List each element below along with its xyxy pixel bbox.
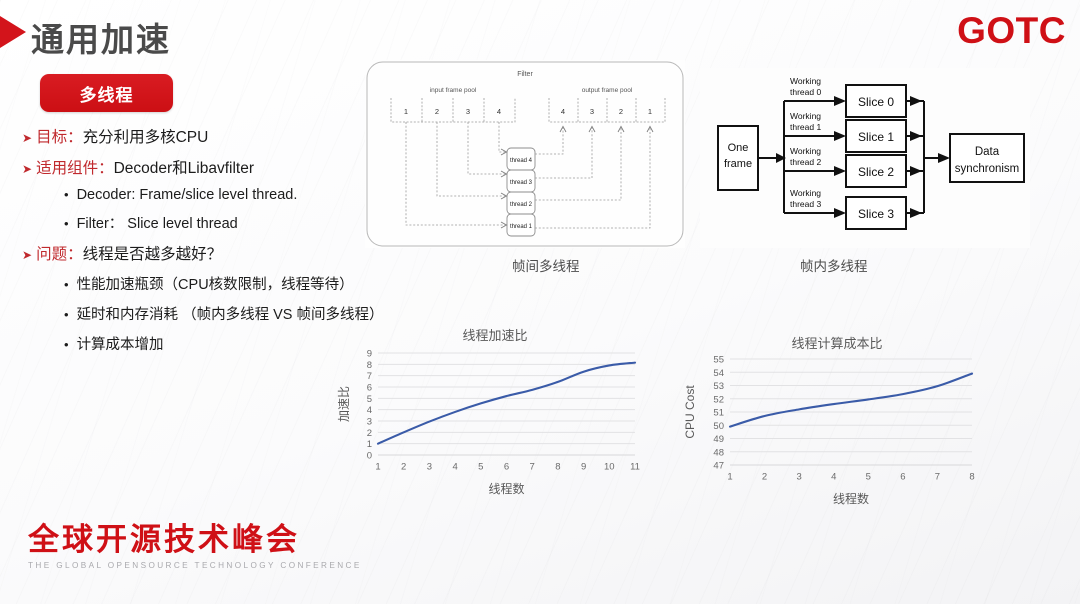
y-tick-label: 55 <box>713 355 724 366</box>
y-tick-label: 3 <box>367 417 372 428</box>
conference-logo: 全球开源技术峰会 THE GLOBAL OPENSOURCE TECHNOLOG… <box>28 524 362 570</box>
chart-speedup: 线程加速比 01234567891234567891011线程数加速比 <box>330 325 660 510</box>
bullet-item-components: ➤ 适用组件 ： Decoder和Libavfilter <box>22 156 377 178</box>
y-tick-label: 2 <box>367 428 372 439</box>
x-tick-label: 3 <box>427 462 432 473</box>
chart-cpu-cost: 线程计算成本比 47484950515253545512345678线程数CPU… <box>672 333 1002 518</box>
x-tick-label: 4 <box>452 462 457 473</box>
y-tick-label: 1 <box>367 439 372 450</box>
bullet-item-question: ➤ 问题 ： 线程是否越多越好？ <box>22 242 377 264</box>
input-frame-1: 1 <box>404 107 408 116</box>
bullet-list: ➤ 目标 ： 充分利用多核CPU ➤ 适用组件 ： Decoder和Libavf… <box>22 125 377 363</box>
y-tick-label: 7 <box>367 371 372 382</box>
y-tick-label: 53 <box>713 381 724 392</box>
y-tick-label: 8 <box>367 360 372 371</box>
bullet-key: 适用组件 <box>36 156 98 178</box>
y-tick-label: 54 <box>713 368 724 379</box>
slice-3-label: Slice 3 <box>858 207 894 221</box>
x-tick-label: 2 <box>401 462 406 473</box>
worker-labels: Working thread 0 Working thread 1 Workin… <box>790 76 821 209</box>
worker-arrowheads <box>834 96 846 218</box>
one-frame-line2: frame <box>724 158 752 170</box>
conference-logo-cn: 全球开源技术峰会 <box>28 524 362 557</box>
x-tick-label: 2 <box>762 472 767 483</box>
y-tick-label: 6 <box>367 383 372 394</box>
y-tick-label: 50 <box>713 421 724 432</box>
worker-0-label2: thread 0 <box>790 87 821 97</box>
bullet-subitem-filter: • Filter： Slice level thread <box>64 212 377 233</box>
chart-cpu-cost-title: 线程计算成本比 <box>672 333 1002 352</box>
x-tick-label: 3 <box>796 472 801 483</box>
input-frame-2: 2 <box>435 107 439 116</box>
bullet-dot-icon: • <box>64 308 69 321</box>
y-tick-label: 0 <box>367 451 372 462</box>
bullet-dot-icon: • <box>64 338 69 351</box>
page-title: 通用加速 <box>31 13 171 61</box>
x-tick-label: 1 <box>375 462 380 473</box>
section-tag-label: 多线程 <box>80 81 134 106</box>
bullet-sep: ： <box>98 156 114 178</box>
x-tick-label: 11 <box>630 462 640 473</box>
output-frame-2: 2 <box>619 107 623 116</box>
y-tick-label: 4 <box>367 405 372 416</box>
output-frame-3: 3 <box>590 107 594 116</box>
x-tick-label: 1 <box>727 472 732 483</box>
output-frame-1: 1 <box>648 107 652 116</box>
chevron-right-icon: ➤ <box>22 132 32 144</box>
x-tick-label: 9 <box>581 462 586 473</box>
x-tick-label: 10 <box>604 462 615 473</box>
input-frame-4: 4 <box>497 107 501 116</box>
diagram-interframe: Filter input frame pool output frame poo… <box>365 60 685 248</box>
conference-logo-en: THE GLOBAL OPENSOURCE TECHNOLOGY CONFERE… <box>28 561 362 570</box>
diagram-intraframe: One frame Working thre <box>700 68 1030 248</box>
x-tick-label: 5 <box>478 462 483 473</box>
diagram-interframe-caption: 帧间多线程 <box>512 255 580 275</box>
slide-canvas: 通用加速 GOTC 多线程 ➤ 目标 ： 充分利用多核CPU ➤ 适用组件 ： … <box>0 0 1080 604</box>
x-axis-title: 线程数 <box>833 491 869 506</box>
chart-cpu-cost-canvas: 47484950515253545512345678线程数CPU Cost <box>672 333 1002 518</box>
slice-boxes: Slice 0 Slice 1 Slice 2 Slice 3 <box>846 85 906 229</box>
chart-speedup-canvas: 01234567891234567891011线程数加速比 <box>330 325 660 510</box>
y-tick-label: 47 <box>713 461 724 472</box>
y-tick-label: 48 <box>713 447 724 458</box>
bullet-dot-icon: • <box>64 188 69 201</box>
data-sync-box: Data synchronism <box>950 134 1024 182</box>
section-tag: 多线程 <box>40 74 173 112</box>
chart-speedup-title: 线程加速比 <box>330 325 660 344</box>
thread-1-label: thread 1 <box>510 224 533 230</box>
slice-1-label: Slice 1 <box>858 130 894 144</box>
chevron-right-icon: ➤ <box>22 163 32 175</box>
output-frame-4: 4 <box>561 107 565 116</box>
bullet-subitem-bottleneck: • 性能加速瓶颈（CPU核数限制，线程等待） <box>64 273 377 294</box>
bullet-subitem-text: Decoder: Frame/slice level thread. <box>77 187 298 203</box>
slice-0-label: Slice 0 <box>858 95 894 109</box>
x-tick-label: 7 <box>935 472 940 483</box>
diagram-filter-label: Filter <box>517 71 533 78</box>
worker-2-label1: Working <box>790 146 821 156</box>
worker-2-label2: thread 2 <box>790 157 821 167</box>
bullet-item-goal: ➤ 目标 ： 充分利用多核CPU <box>22 125 377 147</box>
worker-1-label1: Working <box>790 111 821 121</box>
y-tick-label: 9 <box>367 349 372 360</box>
output-pool-label: output frame pool <box>582 87 633 94</box>
y-tick-label: 52 <box>713 394 724 405</box>
y-tick-label: 51 <box>713 408 724 419</box>
series-line <box>378 363 635 444</box>
thread-3-label: thread 3 <box>510 180 533 186</box>
y-tick-label: 49 <box>713 434 724 445</box>
worker-3-label1: Working <box>790 188 821 198</box>
x-tick-label: 6 <box>504 462 509 473</box>
x-tick-label: 5 <box>866 472 871 483</box>
bullet-subitem-text: 计算成本增加 <box>77 333 164 354</box>
worker-3-label2: thread 3 <box>790 199 821 209</box>
bullet-value: 充分利用多核CPU <box>83 125 209 147</box>
bullet-value: 线程是否越多越好？ <box>83 242 223 264</box>
x-tick-label: 6 <box>900 472 905 483</box>
data-sync-line2: synchronism <box>955 163 1020 175</box>
data-sync-line1: Data <box>975 146 1000 158</box>
thread-stack: thread 4 thread 3 thread 2 thread 1 <box>507 148 535 236</box>
bullet-dot-icon: • <box>64 217 69 230</box>
one-frame-line1: One <box>728 142 749 154</box>
diagram-intraframe-caption: 帧内多线程 <box>800 255 868 275</box>
gotc-logo: GOTC <box>957 10 1066 52</box>
thread-2-label: thread 2 <box>510 202 533 208</box>
y-axis-title: 加速比 <box>337 386 351 422</box>
x-tick-label: 7 <box>530 462 535 473</box>
bullet-subitem-latency: • 延时和内存消耗 （帧内多线程 VS 帧间多线程） <box>64 303 377 324</box>
one-frame-box: One frame <box>718 126 758 190</box>
bullet-subitem-decoder: • Decoder: Frame/slice level thread. <box>64 187 377 203</box>
x-tick-label: 4 <box>831 472 836 483</box>
bullet-key: 问题 <box>36 242 67 264</box>
input-frame-3: 3 <box>466 107 470 116</box>
bullet-sep: ： <box>67 125 83 147</box>
x-axis-title: 线程数 <box>488 481 524 496</box>
thread-4-label: thread 4 <box>510 158 533 164</box>
bullet-sep: ： <box>67 242 83 264</box>
bullet-subitem-text: 性能加速瓶颈（CPU核数限制，线程等待） <box>77 273 354 294</box>
bullet-dot-icon: • <box>64 278 69 291</box>
y-axis-title: CPU Cost <box>683 385 697 439</box>
worker-1-label2: thread 1 <box>790 122 821 132</box>
y-tick-label: 5 <box>367 394 372 405</box>
x-tick-label: 8 <box>555 462 560 473</box>
bullet-subitem-text: 延时和内存消耗 （帧内多线程 VS 帧间多线程） <box>77 303 384 324</box>
bullet-subitem-text: Filter： Slice level thread <box>77 212 238 233</box>
x-tick-label: 8 <box>969 472 974 483</box>
bullet-key: 目标 <box>36 125 67 147</box>
triangle-right-icon <box>0 16 26 48</box>
chevron-right-icon: ➤ <box>22 249 32 261</box>
worker-0-label1: Working <box>790 76 821 86</box>
slice-2-label: Slice 2 <box>858 165 894 179</box>
series-line <box>730 374 972 427</box>
input-pool-label: input frame pool <box>430 87 477 94</box>
bullet-value: Decoder和Libavfilter <box>114 156 254 178</box>
